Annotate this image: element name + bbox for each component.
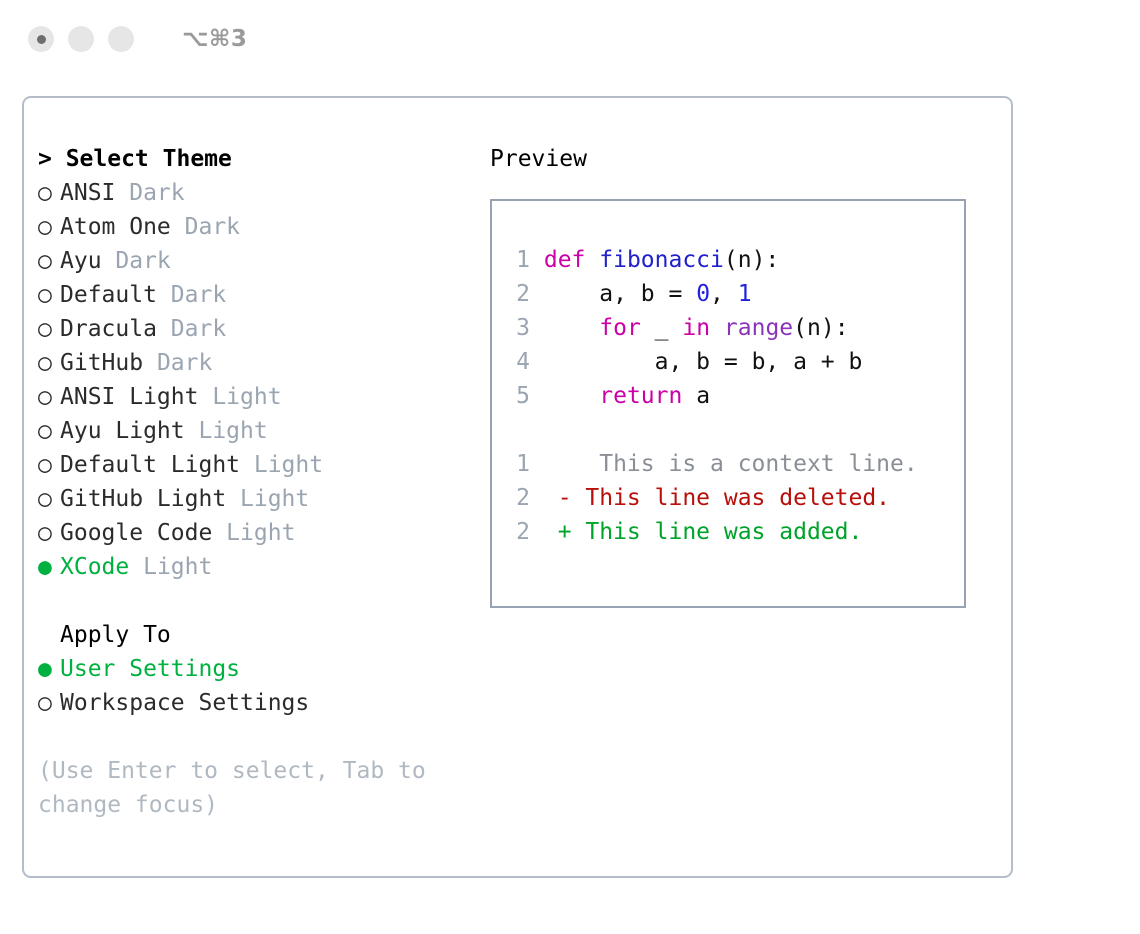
keyboard-hint-text: (Use Enter to select, Tab to change focu… [38, 754, 458, 822]
radio-unselected-icon: ○ [38, 686, 60, 720]
diff-line-text: This line was added. [572, 519, 863, 545]
apply-to-section: Apply To ●User Settings○Workspace Settin… [38, 618, 498, 720]
code-line-number: 4 [508, 345, 530, 379]
theme-option-label: Google Code [60, 520, 212, 546]
preview-heading: Preview [490, 142, 990, 176]
theme-option-label: Ayu Light [60, 418, 185, 444]
code-token-kw: in [682, 315, 710, 341]
traffic-dot-inner-icon [37, 35, 46, 44]
radio-selected-icon: ● [38, 550, 60, 584]
radio-unselected-icon: ○ [38, 244, 60, 278]
theme-option-ansi[interactable]: ○ANSI Dark [38, 176, 498, 210]
diff-line-del: 2 - This line was deleted. [508, 481, 964, 515]
code-token-pl [544, 315, 599, 341]
theme-option-label: Dracula [60, 316, 157, 342]
theme-option-variant: Light [198, 384, 281, 410]
radio-unselected-icon: ○ [38, 414, 60, 448]
theme-option-variant: Light [185, 418, 268, 444]
theme-option-default[interactable]: ○Default Dark [38, 278, 498, 312]
diff-line-add: 2 + This line was added. [508, 515, 964, 549]
theme-option-ansi-light[interactable]: ○ANSI Light Light [38, 380, 498, 414]
radio-unselected-icon: ○ [38, 346, 60, 380]
theme-option-label: ANSI [60, 180, 115, 206]
code-line-number: 5 [508, 379, 530, 413]
diff-line-ctx: 1 This is a context line. [508, 447, 964, 481]
theme-option-dracula[interactable]: ○Dracula Dark [38, 312, 498, 346]
code-line: 1 def fibonacci(n): [508, 243, 964, 277]
theme-option-ayu-light[interactable]: ○Ayu Light Light [38, 414, 498, 448]
code-token-pl: a [682, 383, 710, 409]
code-line-text: a, b = b, a + b [544, 349, 863, 375]
theme-option-variant: Light [240, 452, 323, 478]
spacer [508, 413, 964, 447]
code-token-num: 1 [738, 281, 752, 307]
preview-box: 1 def fibonacci(n):2 a, b = 0, 13 for _ … [490, 199, 966, 608]
theme-option-xcode[interactable]: ●XCode Light [38, 550, 498, 584]
radio-unselected-icon: ○ [38, 278, 60, 312]
diff-line-number: 2 [508, 481, 530, 515]
radio-unselected-icon: ○ [38, 210, 60, 244]
app-window: ⌥⌘3 > Select Theme ○ANSI Dark○Atom One D… [0, 0, 1140, 934]
code-sample: 1 def fibonacci(n):2 a, b = 0, 13 for _ … [508, 243, 964, 413]
main-panel: > Select Theme ○ANSI Dark○Atom One Dark○… [22, 96, 1013, 878]
radio-unselected-icon: ○ [38, 312, 60, 346]
theme-option-variant: Dark [171, 214, 240, 240]
code-token-pl [544, 383, 599, 409]
theme-option-label: Default Light [60, 452, 240, 478]
traffic-light-minimize[interactable] [68, 26, 94, 52]
code-line-text: for _ in range(n): [544, 315, 849, 341]
theme-option-label: XCode [60, 554, 129, 580]
theme-option-google-code[interactable]: ○Google Code Light [38, 516, 498, 550]
title-bar: ⌥⌘3 [0, 0, 1140, 78]
code-token-pl: (n): [724, 247, 779, 273]
select-theme-heading: > Select Theme [38, 142, 498, 176]
code-token-pl: _ [641, 315, 683, 341]
radio-unselected-icon: ○ [38, 448, 60, 482]
apply-to-option-label: Workspace Settings [60, 690, 309, 716]
traffic-light-close[interactable] [28, 26, 54, 52]
apply-to-heading: Apply To [38, 618, 498, 652]
theme-option-label: Atom One [60, 214, 171, 240]
code-token-fn: fibonacci [599, 247, 724, 273]
theme-option-atom-one[interactable]: ○Atom One Dark [38, 210, 498, 244]
code-token-pl: (n): [793, 315, 848, 341]
theme-option-variant: Dark [115, 180, 184, 206]
theme-option-variant: Light [129, 554, 212, 580]
code-line-text: a, b = 0, 1 [544, 281, 752, 307]
code-token-bi: range [724, 315, 793, 341]
theme-option-variant: Light [226, 486, 309, 512]
preview-column: Preview 1 def fibonacci(n):2 a, b = 0, 1… [490, 142, 990, 608]
code-token-kw: def [544, 247, 599, 273]
theme-option-label: Ayu [60, 248, 102, 274]
theme-option-variant: Light [212, 520, 295, 546]
theme-option-label: Default [60, 282, 157, 308]
code-line-text: def fibonacci(n): [544, 247, 779, 273]
theme-option-label: ANSI Light [60, 384, 198, 410]
keyboard-shortcut-label: ⌥⌘3 [182, 26, 247, 52]
diff-sign [530, 451, 572, 477]
apply-to-list[interactable]: ●User Settings○Workspace Settings [38, 652, 498, 720]
code-token-kw: return [599, 383, 682, 409]
code-token-num: 0 [696, 281, 710, 307]
code-token-pl: a, b = b, a + b [544, 349, 863, 375]
theme-option-github[interactable]: ○GitHub Dark [38, 346, 498, 380]
theme-option-variant: Dark [102, 248, 171, 274]
diff-line-number: 1 [508, 447, 530, 481]
theme-option-github-light[interactable]: ○GitHub Light Light [38, 482, 498, 516]
apply-to-option-label: User Settings [60, 656, 240, 682]
code-token-pl: a, b = [544, 281, 696, 307]
code-line-number: 2 [508, 277, 530, 311]
theme-option-label: GitHub Light [60, 486, 226, 512]
radio-unselected-icon: ○ [38, 380, 60, 414]
apply-to-option-user-settings[interactable]: ●User Settings [38, 652, 498, 686]
apply-to-option-workspace-settings[interactable]: ○Workspace Settings [38, 686, 498, 720]
traffic-light-maximize[interactable] [108, 26, 134, 52]
theme-list[interactable]: ○ANSI Dark○Atom One Dark○Ayu Dark○Defaul… [38, 176, 498, 584]
code-token-pl: , [710, 281, 738, 307]
theme-selector-column: > Select Theme ○ANSI Dark○Atom One Dark○… [38, 142, 498, 822]
diff-line-number: 2 [508, 515, 530, 549]
diff-sample: 1 This is a context line.2 - This line w… [508, 447, 964, 549]
code-line: 5 return a [508, 379, 964, 413]
diff-sign: - [530, 485, 572, 511]
code-line-text: return a [544, 383, 710, 409]
diff-sign: + [530, 519, 572, 545]
code-line-number: 1 [508, 243, 530, 277]
code-line-number: 3 [508, 311, 530, 345]
code-token-kw: for [599, 315, 641, 341]
diff-line-text: This is a context line. [572, 451, 918, 477]
radio-unselected-icon: ○ [38, 482, 60, 516]
diff-line-text: This line was deleted. [572, 485, 891, 511]
code-line: 3 for _ in range(n): [508, 311, 964, 345]
theme-option-variant: Dark [143, 350, 212, 376]
theme-option-label: GitHub [60, 350, 143, 376]
radio-selected-icon: ● [38, 652, 60, 686]
theme-option-ayu[interactable]: ○Ayu Dark [38, 244, 498, 278]
code-token-pl [710, 315, 724, 341]
code-line: 2 a, b = 0, 1 [508, 277, 964, 311]
theme-option-default-light[interactable]: ○Default Light Light [38, 448, 498, 482]
radio-unselected-icon: ○ [38, 176, 60, 210]
theme-option-variant: Dark [157, 282, 226, 308]
theme-option-variant: Dark [157, 316, 226, 342]
radio-unselected-icon: ○ [38, 516, 60, 550]
code-line: 4 a, b = b, a + b [508, 345, 964, 379]
